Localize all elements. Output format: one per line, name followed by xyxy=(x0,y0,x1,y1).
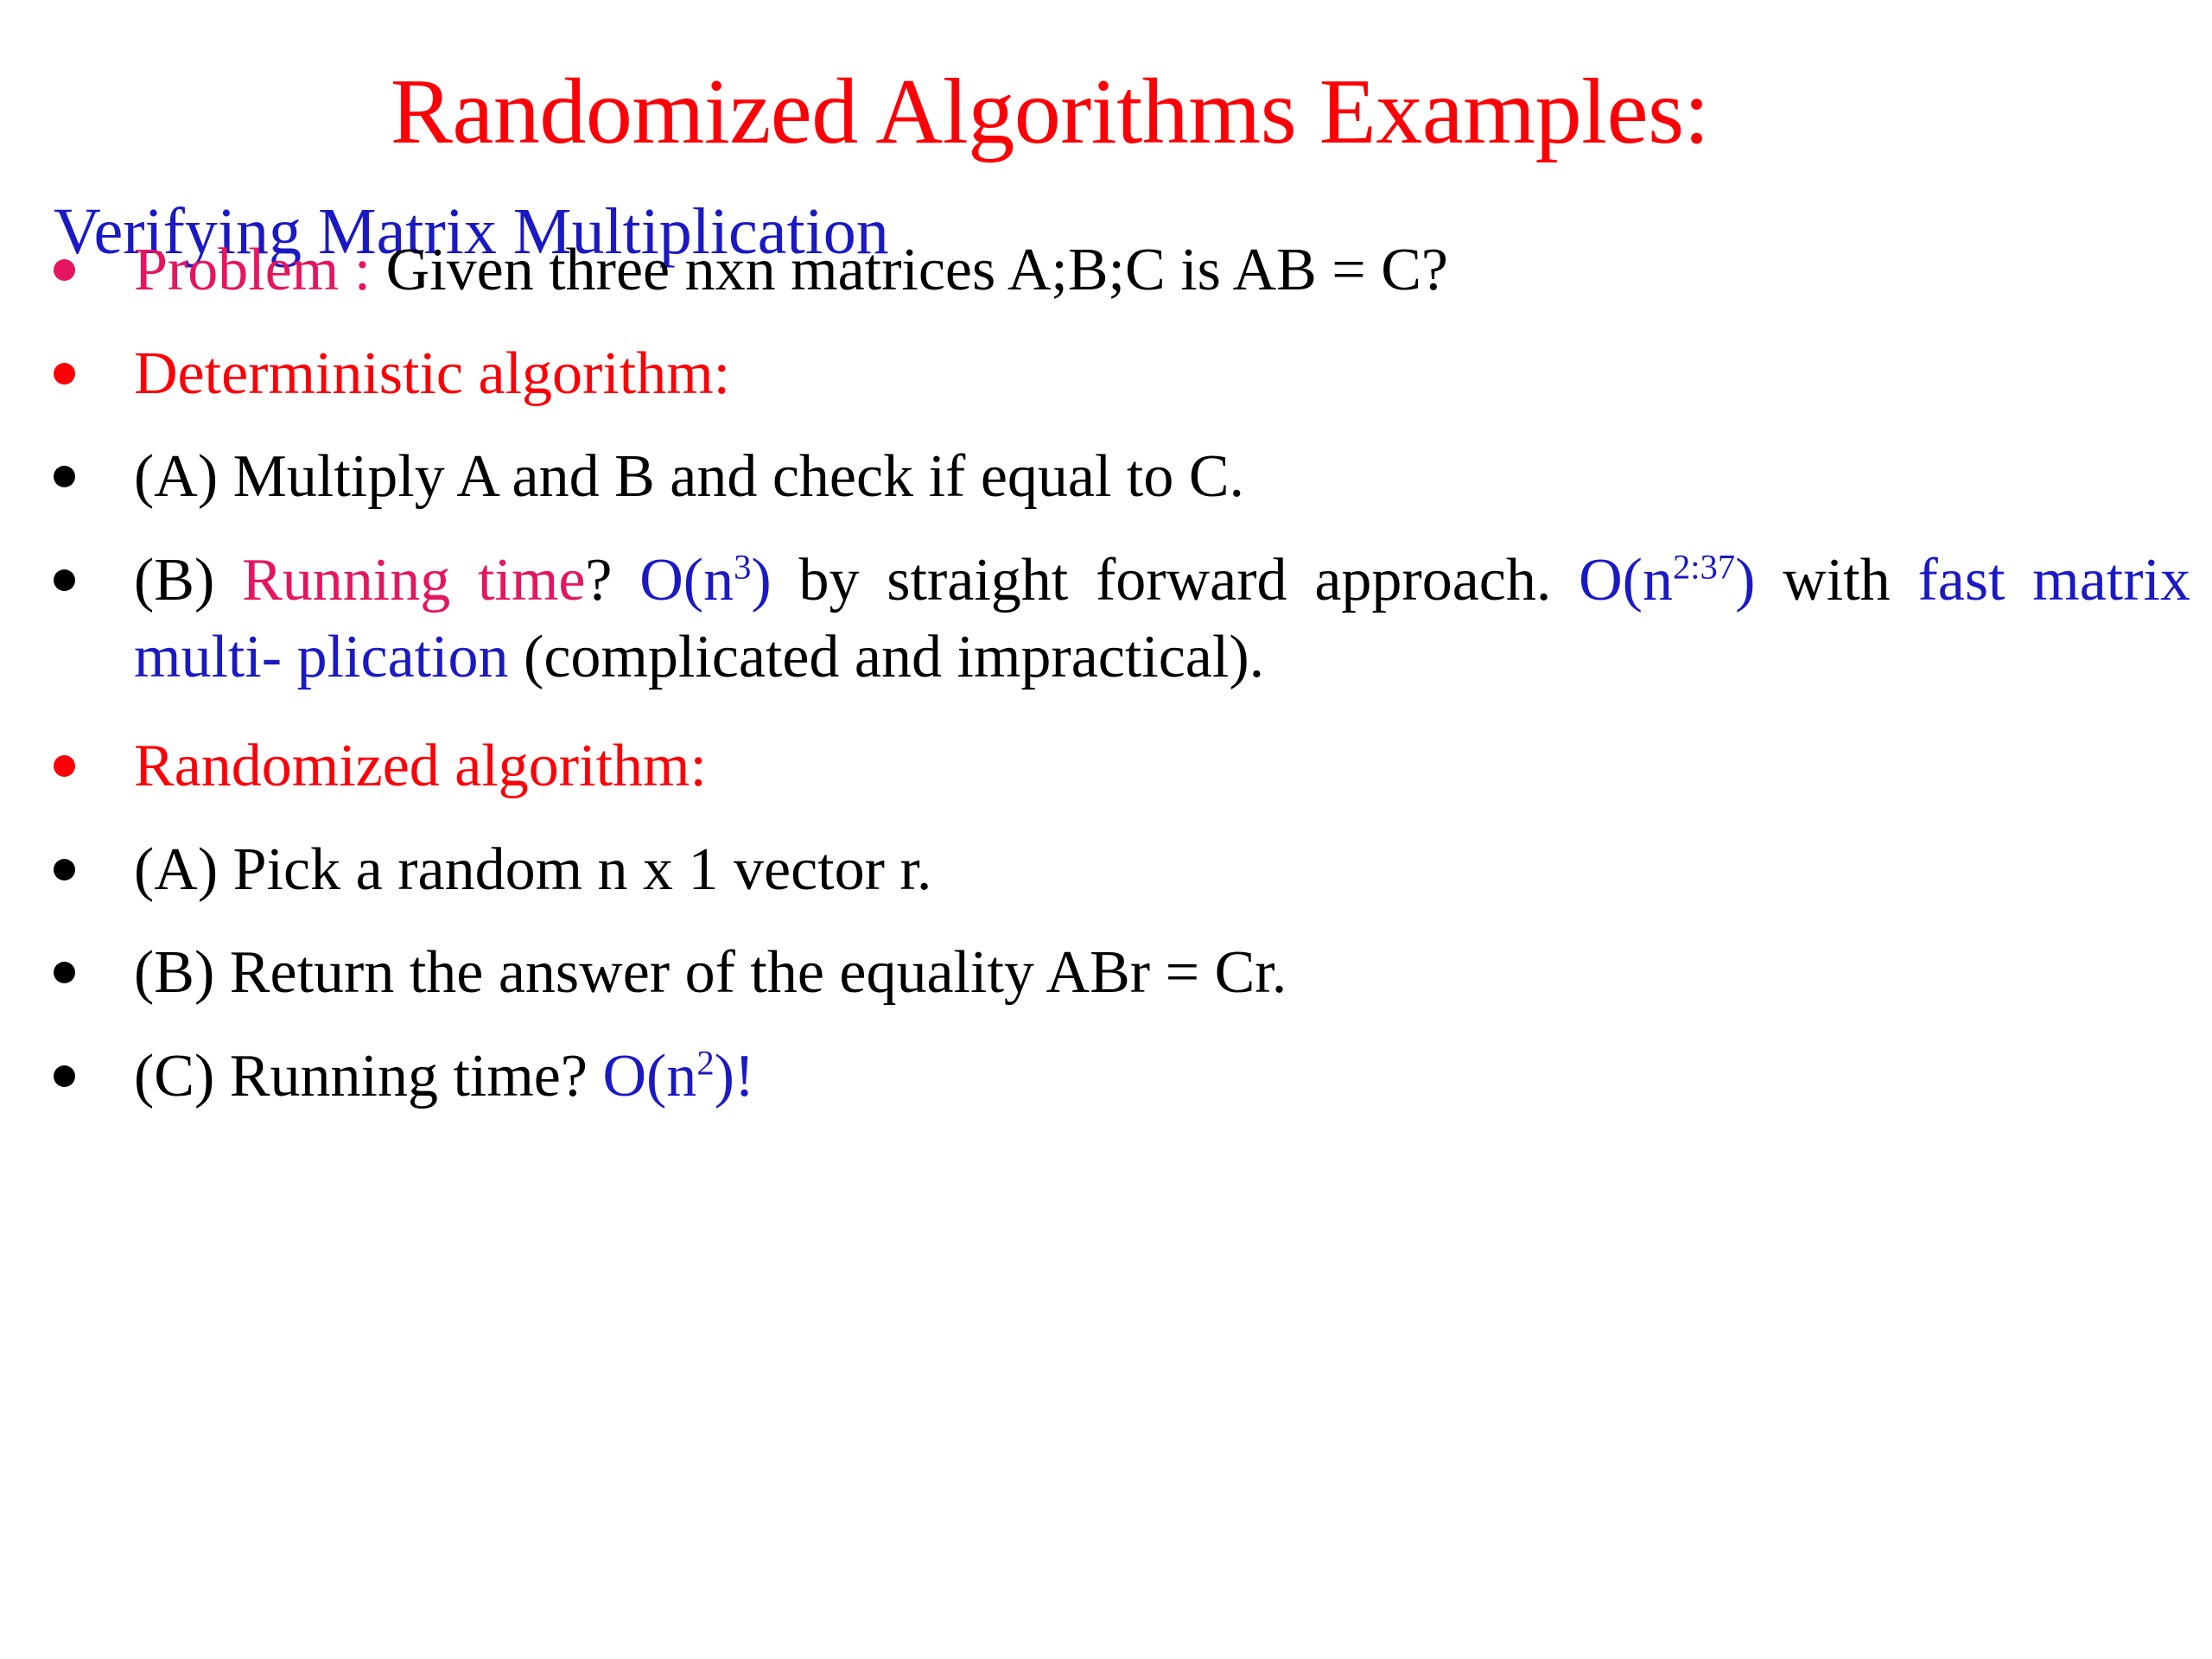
bullet-dot-icon xyxy=(54,859,75,880)
list-item-deterministic-a: (A) Multiply A and B and check if equal … xyxy=(0,438,2212,516)
deterministic-a-text: (A) Multiply A and B and check if equal … xyxy=(134,443,1244,510)
randomized-heading-label: Randomized algorithm: xyxy=(134,733,707,799)
slide-canvas: Randomized Algorithms Examples: Verifyin… xyxy=(0,0,2212,1659)
complexity-exponent: 2:37 xyxy=(1673,547,1735,586)
bullet-dot-icon xyxy=(54,1065,75,1087)
list-item-problem: Problem : Given three nxn matrices A;B;C… xyxy=(0,232,2212,309)
deterministic-heading-label: Deterministic algorithm: xyxy=(134,340,730,407)
randomized-c-prefix: (C) Running time? xyxy=(134,1043,602,1109)
bullet-list: Problem : Given three nxn matrices A;B;C… xyxy=(0,232,2212,1137)
complexity-close: ) xyxy=(1735,547,1755,613)
complexity-base: O(n xyxy=(1579,547,1673,613)
complexity-exponent: 3 xyxy=(734,547,751,586)
list-item-deterministic-b: (B) Running time? O(n3) by straight forw… xyxy=(0,542,2212,696)
det-b-running-time: Running time xyxy=(242,547,585,613)
det-b-question: ? xyxy=(585,547,639,613)
list-item-randomized-c: (C) Running time? O(n2)! xyxy=(0,1038,2212,1116)
complexity-close: )! xyxy=(715,1043,755,1109)
complexity-base: O(n xyxy=(639,547,734,613)
det-b-suffix: (complicated and impractical). xyxy=(509,624,1265,690)
randomized-a-text: (A) Pick a random n x 1 vector r. xyxy=(134,836,931,903)
complexity-base: O(n xyxy=(602,1043,696,1109)
complexity-close: ) xyxy=(751,547,771,613)
det-b-complexity-cubic: O(n3) xyxy=(639,547,771,613)
page-title: Randomized Algorithms Examples: xyxy=(0,57,2100,167)
randomized-c-complexity: O(n2)! xyxy=(602,1043,754,1109)
det-b-complexity-fast: O(n2:37) xyxy=(1579,547,1755,613)
list-item-randomized-b: (B) Return the answer of the equality AB… xyxy=(0,934,2212,1012)
complexity-exponent: 2 xyxy=(696,1043,714,1082)
list-item-randomized-heading: Randomized algorithm: xyxy=(0,728,2212,805)
bullet-dot-icon xyxy=(54,259,75,281)
bullet-dot-icon xyxy=(54,363,75,385)
det-b-mid-text: by straight forward approach. xyxy=(772,547,1579,613)
bullet-dot-icon xyxy=(54,962,75,983)
randomized-b-text: (B) Return the answer of the equality AB… xyxy=(134,939,1287,1006)
det-b-with-text: with xyxy=(1755,547,1917,613)
list-item-randomized-a: (A) Pick a random n x 1 vector r. xyxy=(0,831,2212,909)
list-item-deterministic-heading: Deterministic algorithm: xyxy=(0,335,2212,413)
problem-text: Given three nxn matrices A;B;C is AB = C… xyxy=(371,237,1448,303)
bullet-dot-icon xyxy=(54,466,75,487)
det-b-prefix: (B) xyxy=(134,547,242,613)
bullet-dot-icon xyxy=(54,569,75,591)
problem-label: Problem : xyxy=(134,237,371,303)
bullet-dot-icon xyxy=(54,755,75,777)
